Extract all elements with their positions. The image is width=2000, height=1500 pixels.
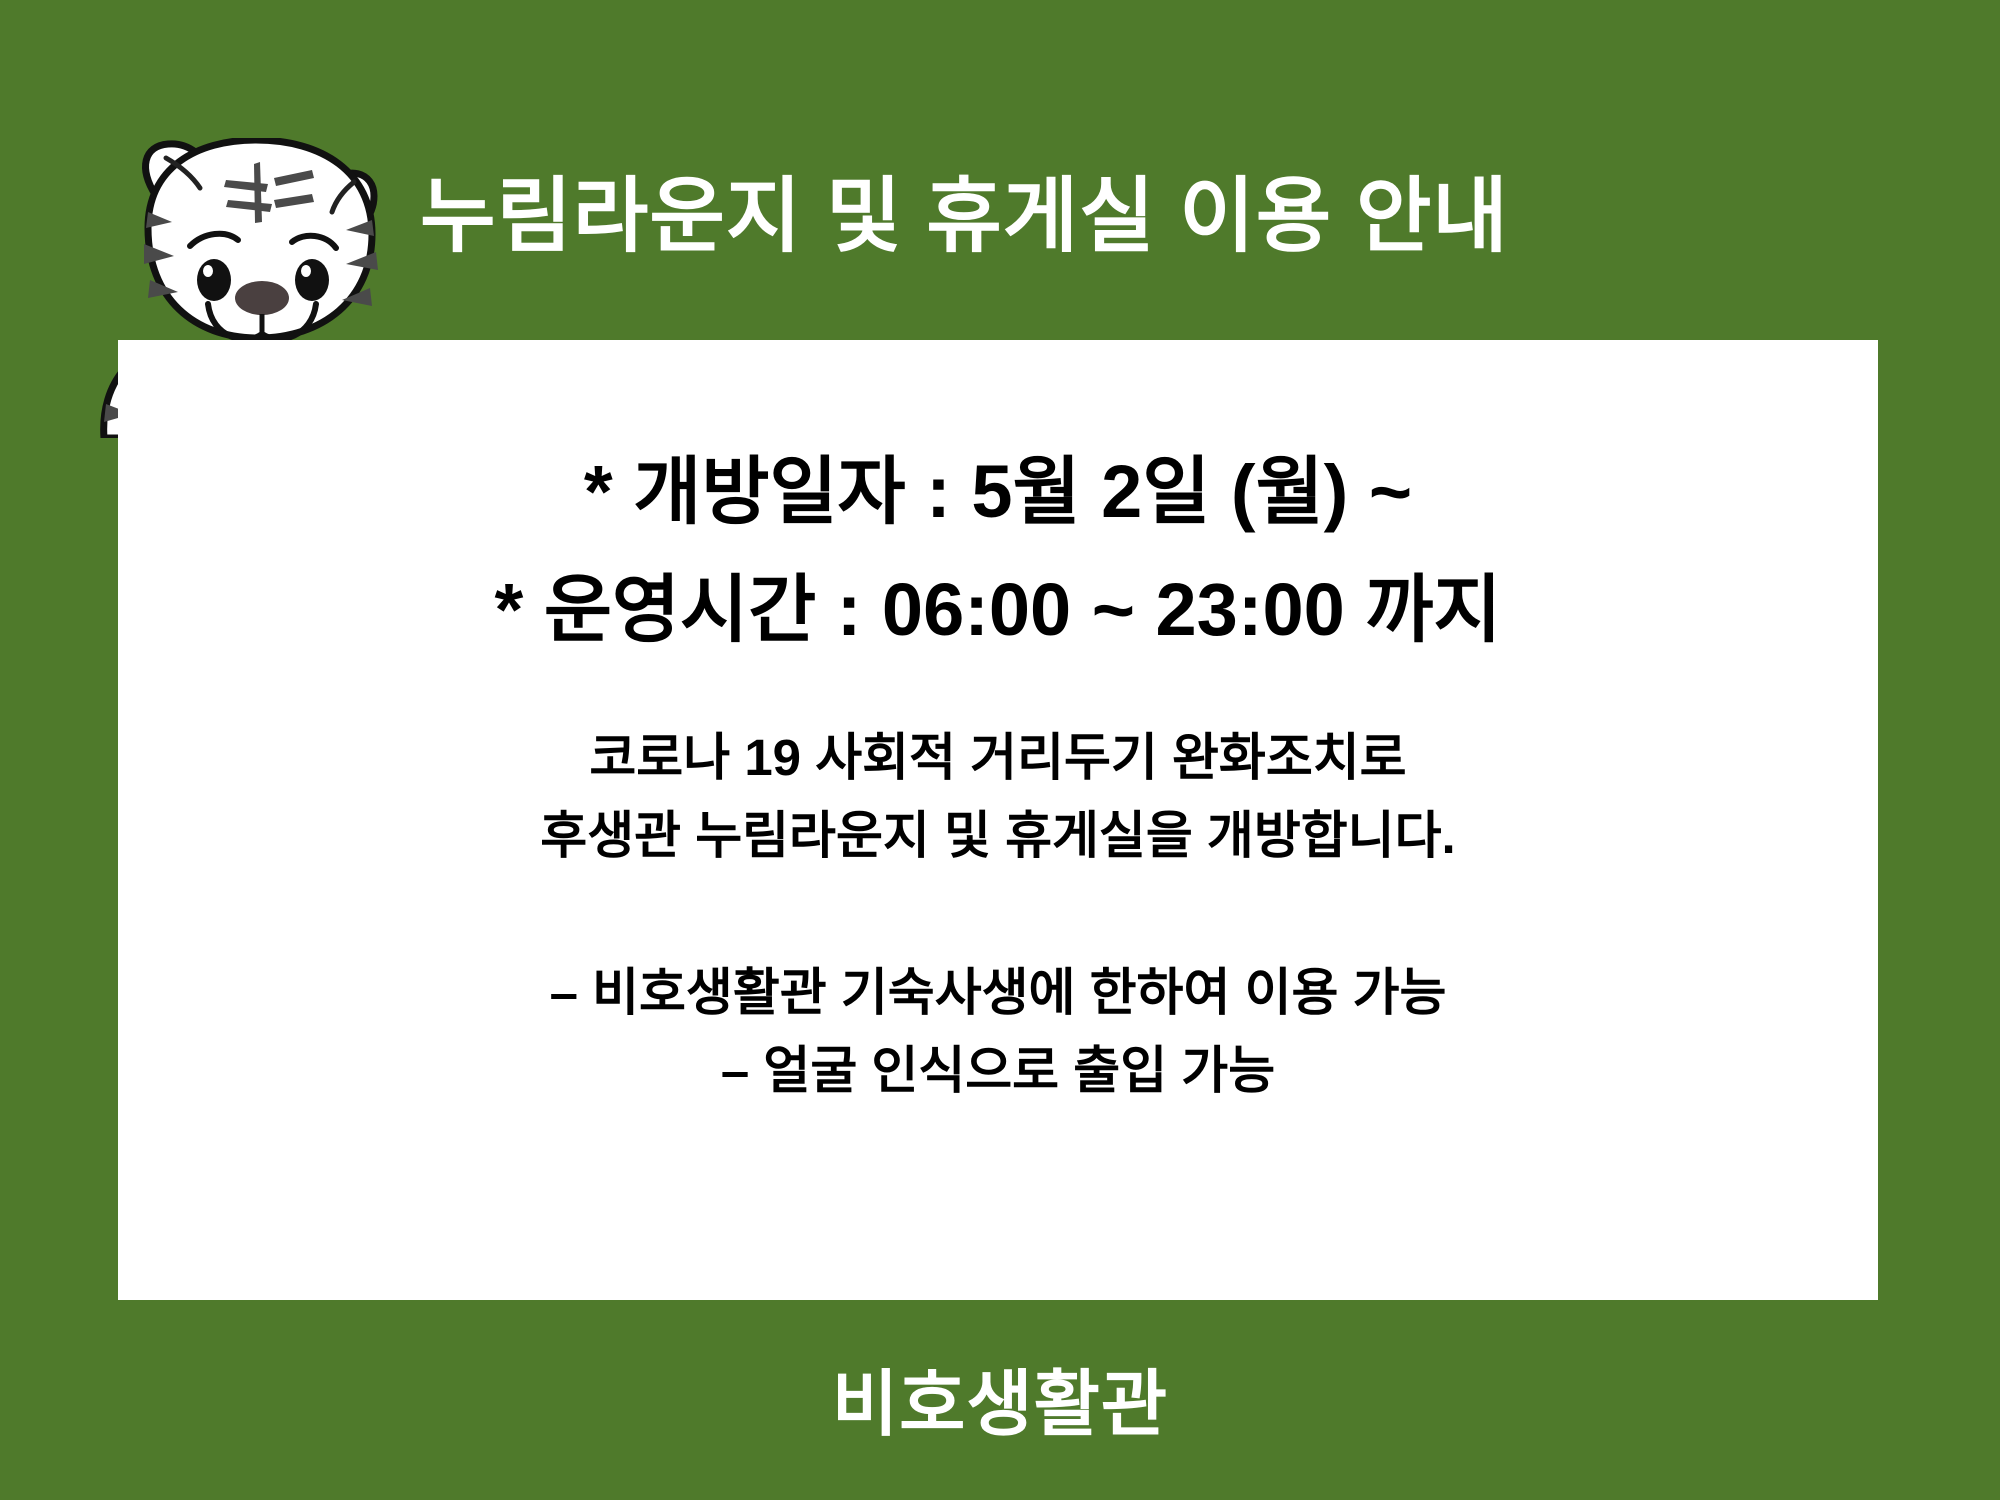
notice-card-content: * 개방일자 : 5월 2일 (월) ~ * 운영시간 : 06:00 ~ 23…: [118, 340, 1878, 1300]
notice-card: * 개방일자 : 5월 2일 (월) ~ * 운영시간 : 06:00 ~ 23…: [118, 340, 1878, 1300]
poster-canvas: 누림라운지 및 휴게실 이용 안내 * 개방일자 : 5월 2일 (월) ~ *…: [0, 0, 2000, 1500]
footer-organization-name: 비호생활관: [0, 1345, 2000, 1450]
notice-bullet-face-recognition: – 얼굴 인식으로 출입 가능: [118, 1045, 1878, 1096]
notice-bullet-residents-only: – 비호생활관 기숙사생에 한하여 이용 가능: [118, 967, 1878, 1018]
notice-open-date: * 개방일자 : 5월 2일 (월) ~: [118, 455, 1878, 529]
notice-operating-hours: * 운영시간 : 06:00 ~ 23:00 까지: [118, 573, 1878, 647]
page-title: 누림라운지 및 휴게실 이용 안내: [420, 176, 1760, 258]
notice-paragraph-line-2: 후생관 누림라운지 및 휴게실을 개방합니다.: [118, 810, 1878, 861]
mascot-eye-left: [197, 259, 231, 301]
notice-paragraph-line-1: 코로나 19 사회적 거리두기 완화조치로: [118, 732, 1878, 783]
mascot-nose: [235, 281, 289, 315]
mascot-eye-right: [295, 259, 329, 301]
